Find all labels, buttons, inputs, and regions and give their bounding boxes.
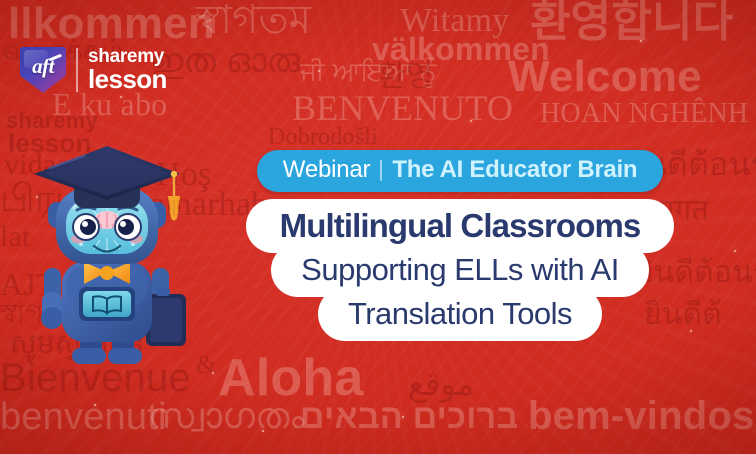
sparkle-dot: [120, 96, 122, 98]
title-card: Multilingual Classrooms Supporting ELLs …: [196, 199, 724, 341]
brand-line-2: lesson: [88, 67, 167, 92]
title-line-1: Multilingual Classrooms: [246, 199, 675, 253]
eyebrow-divider: [380, 160, 382, 181]
sparkle-dot: [402, 416, 404, 418]
sparkle-dot: [262, 430, 264, 432]
sparkle-dot: [212, 372, 214, 374]
brand-logo[interactable]: aft sharemy lesson: [20, 47, 167, 93]
gold-tassel-icon: [168, 171, 180, 221]
graduate-robot-mascot: [22, 142, 192, 370]
aft-shield-icon: aft: [20, 47, 66, 93]
sparkle-dot: [470, 120, 472, 122]
eyebrow-label: Webinar: [283, 156, 371, 184]
sharemylesson-wordmark: sharemy lesson: [88, 48, 167, 92]
sparkle-dot: [318, 70, 320, 72]
series-title: The AI Educator Brain: [392, 156, 637, 184]
webinar-eyebrow-pill: Webinar The AI Educator Brain: [257, 150, 663, 192]
sparkle-dot: [734, 250, 736, 252]
sparkle-dot: [640, 40, 642, 42]
robot-illustration: [22, 142, 192, 370]
webinar-promo-banner: llkommenস্বাগতমWitamy환영합니다வணக்கம்välkomm…: [0, 0, 756, 454]
logo-divider: [76, 48, 78, 92]
sparkle-dot: [94, 404, 96, 406]
headline-block: Webinar The AI Educator Brain Multilingu…: [196, 150, 724, 341]
